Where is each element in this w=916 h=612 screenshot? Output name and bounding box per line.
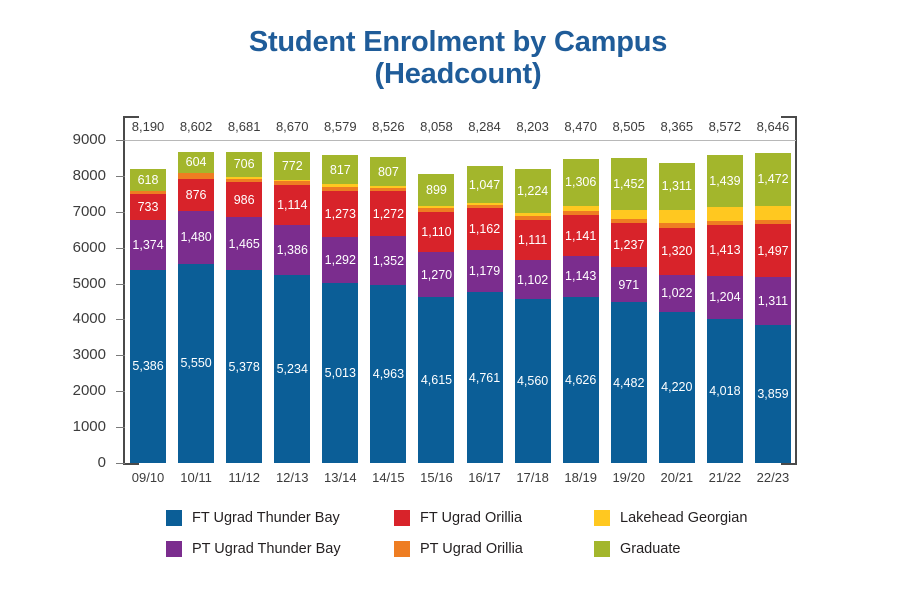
bar-segment-label: 772 [274,159,310,173]
bar-segment-label: 1,111 [515,233,551,247]
bar-column[interactable]: 5,0131,2921,273817 [322,140,358,463]
bar-segment-label: 4,626 [563,373,599,387]
chart-title: Student Enrolment by Campus (Headcount) [0,26,916,90]
bar-segment-ft_ugrad_thunder_bay[interactable]: 3,859 [755,325,791,463]
bar-segment-lakehead_georgian[interactable] [707,207,743,221]
bar-column[interactable]: 4,6261,1431,1411,306 [563,140,599,463]
bar-segment-pt_ugrad_thunder_bay[interactable]: 1,179 [467,250,503,292]
bar-segment-label: 604 [178,155,214,169]
y-axis-label-0: 0 [98,454,106,471]
legend-swatch-graduate [594,541,610,557]
bar-segment-lakehead_georgian[interactable] [274,180,310,181]
bar-segment-ft_ugrad_thunder_bay[interactable]: 4,626 [563,297,599,463]
bar-segment-pt_ugrad_thunder_bay[interactable]: 1,143 [563,256,599,297]
x-axis-label: 15/16 [412,470,460,485]
bar-total-label: 8,505 [605,119,653,134]
bar-segment-ft_ugrad_thunder_bay[interactable]: 4,018 [707,319,743,463]
bar-segment-ft_ugrad_orillia[interactable]: 1,272 [370,191,406,237]
bar-segment-label: 1,141 [563,229,599,243]
bar-segment-label: 817 [322,163,358,177]
y-tick-1000 [116,427,125,428]
bar-segment-ft_ugrad_thunder_bay[interactable]: 4,963 [370,285,406,463]
bar-segment-graduate[interactable]: 1,452 [611,158,647,210]
bar-segment-pt_ugrad_thunder_bay[interactable]: 1,465 [226,217,262,270]
legend-label-ft_ugrad_thunder_bay: FT Ugrad Thunder Bay [192,510,340,526]
axis-cap-bottom-right [781,463,797,465]
bar-segment-ft_ugrad_orillia[interactable]: 1,237 [611,223,647,267]
bar-segment-label: 1,480 [178,230,214,244]
bar-segment-lakehead_georgian[interactable] [467,203,503,205]
bar-segment-ft_ugrad_thunder_bay[interactable]: 5,013 [322,283,358,463]
bar-segment-label: 4,220 [659,380,695,394]
bar-segment-pt_ugrad_thunder_bay[interactable]: 1,352 [370,236,406,285]
bar-segment-ft_ugrad_orillia[interactable]: 876 [178,179,214,210]
chart-title-line1: Student Enrolment by Campus [249,26,667,58]
bar-total-label: 8,646 [749,119,797,134]
bar-segment-lakehead_georgian[interactable] [659,210,695,223]
bar-total-label: 8,284 [461,119,509,134]
legend-swatch-ft_ugrad_thunder_bay [166,510,182,526]
y-tick-3000 [116,355,125,356]
bar-segment-label: 1,413 [707,243,743,257]
x-axis-label: 22/23 [749,470,797,485]
bar-segment-pt_ugrad_thunder_bay[interactable]: 1,480 [178,211,214,264]
bar-column[interactable]: 4,0181,2041,4131,439 [707,140,743,463]
bar-total-label: 8,572 [701,119,749,134]
y-tick-2000 [116,391,125,392]
legend-item-graduate[interactable]: Graduate [594,541,680,557]
bar-segment-lakehead_georgian[interactable] [755,206,791,220]
bar-segment-label: 1,374 [130,238,166,252]
bar-segment-label: 4,963 [370,367,406,381]
bar-segment-lakehead_georgian[interactable] [322,184,358,186]
bar-segment-label: 1,472 [755,172,791,186]
bar-segment-graduate[interactable]: 899 [418,174,454,206]
x-axis-label: 09/10 [124,470,172,485]
bar-segment-ft_ugrad_orillia[interactable]: 1,162 [467,208,503,250]
y-axis-label-2000: 2000 [73,382,106,399]
bar-segment-pt_ugrad_orillia[interactable] [515,216,551,220]
bar-total-label: 8,470 [557,119,605,134]
bar-segment-graduate[interactable]: 807 [370,157,406,186]
bar-segment-ft_ugrad_thunder_bay[interactable]: 4,220 [659,312,695,463]
legend-item-ft_ugrad_thunder_bay[interactable]: FT Ugrad Thunder Bay [166,510,340,526]
bar-segment-lakehead_georgian[interactable] [611,210,647,219]
bar-segment-graduate[interactable]: 1,311 [659,163,695,210]
bar-segment-pt_ugrad_thunder_bay[interactable]: 1,386 [274,225,310,275]
axis-cap-top-left [123,116,139,118]
bar-segment-ft_ugrad_orillia[interactable]: 1,320 [659,228,695,275]
bar-column[interactable]: 5,3781,465986706 [226,140,262,463]
bar-segment-pt_ugrad_orillia[interactable] [178,173,214,179]
y-axis-label-1000: 1000 [73,418,106,435]
bar-segment-ft_ugrad_orillia[interactable]: 733 [130,194,166,220]
legend-label-ft_ugrad_orillia: FT Ugrad Orillia [420,510,522,526]
bar-segment-label: 876 [178,188,214,202]
bar-segment-pt_ugrad_orillia[interactable] [611,219,647,223]
bar-segment-label: 3,859 [755,387,791,401]
y-tick-9000 [116,140,125,141]
bar-segment-label: 706 [226,157,262,171]
bar-segment-ft_ugrad_thunder_bay[interactable]: 5,234 [274,275,310,463]
bar-segment-pt_ugrad_orillia[interactable] [659,223,695,227]
bar-column[interactable]: 4,5601,1021,1111,224 [515,140,551,463]
bar-segment-pt_ugrad_orillia[interactable] [322,187,358,191]
legend-label-pt_ugrad_thunder_bay: PT Ugrad Thunder Bay [192,541,341,557]
bar-segment-ft_ugrad_thunder_bay[interactable]: 4,560 [515,299,551,463]
bar-segment-pt_ugrad_thunder_bay[interactable]: 1,374 [130,220,166,269]
legend-swatch-pt_ugrad_thunder_bay [166,541,182,557]
bar-segment-label: 1,311 [755,294,791,308]
bar-column[interactable]: 5,2341,3861,114772 [274,140,310,463]
legend-item-pt_ugrad_thunder_bay[interactable]: PT Ugrad Thunder Bay [166,541,341,557]
bar-segment-pt_ugrad_orillia[interactable] [755,220,791,224]
bar-segment-label: 5,234 [274,362,310,376]
bar-segment-label: 4,482 [611,376,647,390]
y-tick-6000 [116,248,125,249]
legend-label-pt_ugrad_orillia: PT Ugrad Orillia [420,541,523,557]
bar-total-label: 8,526 [364,119,412,134]
bar-segment-label: 1,306 [563,175,599,189]
x-axis-label: 10/11 [172,470,220,485]
chart-legend: FT Ugrad Thunder BayPT Ugrad Thunder Bay… [166,510,786,572]
y-axis-label-8000: 8000 [73,167,106,184]
x-axis-label: 14/15 [364,470,412,485]
y-axis-label-6000: 6000 [73,239,106,256]
bar-total-label: 8,681 [220,119,268,134]
bar-segment-pt_ugrad_thunder_bay[interactable]: 1,102 [515,260,551,300]
bar-segment-graduate[interactable]: 1,306 [563,159,599,206]
x-axis-label: 12/13 [268,470,316,485]
bar-total-label: 8,670 [268,119,316,134]
x-axis-label: 21/22 [701,470,749,485]
bar-segment-pt_ugrad_orillia[interactable] [370,188,406,191]
bar-segment-label: 1,352 [370,254,406,268]
bar-segment-label: 1,272 [370,207,406,221]
bar-segment-pt_ugrad_thunder_bay[interactable]: 1,204 [707,276,743,319]
y-axis-label-7000: 7000 [73,203,106,220]
bar-segment-ft_ugrad_orillia[interactable]: 986 [226,182,262,217]
y-axis-label-5000: 5000 [73,275,106,292]
bar-segment-ft_ugrad_orillia[interactable]: 1,273 [322,191,358,237]
bar-column[interactable]: 4,2201,0221,3201,311 [659,140,695,463]
bar-segment-label: 1,465 [226,237,262,251]
bar-total-label: 8,203 [509,119,557,134]
bar-segment-graduate[interactable]: 1,439 [707,155,743,207]
bar-segment-label: 5,386 [130,359,166,373]
bar-segment-pt_ugrad_thunder_bay[interactable]: 971 [611,267,647,302]
bar-segment-label: 1,143 [563,269,599,283]
bar-segment-label: 971 [611,278,647,292]
bar-segment-graduate[interactable]: 706 [226,152,262,177]
bar-segment-label: 1,110 [418,225,454,239]
bar-segment-ft_ugrad_thunder_bay[interactable]: 5,378 [226,270,262,463]
bar-segment-label: 5,378 [226,360,262,374]
y-axis-label-3000: 3000 [73,346,106,363]
x-axis-label: 11/12 [220,470,268,485]
bar-segment-ft_ugrad_thunder_bay[interactable]: 4,615 [418,297,454,463]
x-axis-label: 17/18 [509,470,557,485]
bar-segment-label: 4,761 [467,371,503,385]
bar-segment-ft_ugrad_thunder_bay[interactable]: 5,550 [178,264,214,463]
bar-segment-pt_ugrad_thunder_bay[interactable]: 1,270 [418,252,454,298]
bar-segment-label: 1,273 [322,207,358,221]
legend-swatch-pt_ugrad_orillia [394,541,410,557]
bar-column[interactable]: 5,3861,374733618 [130,140,166,463]
legend-swatch-ft_ugrad_orillia [394,510,410,526]
bar-segment-graduate[interactable]: 817 [322,155,358,184]
bar-segment-graduate[interactable]: 1,047 [467,166,503,204]
bar-segment-label: 618 [130,173,166,187]
bar-segment-label: 1,224 [515,184,551,198]
bar-segment-label: 1,162 [467,222,503,236]
legend-label-graduate: Graduate [620,541,680,557]
bar-segment-label: 1,204 [707,290,743,304]
bar-segment-label: 4,018 [707,384,743,398]
bar-segment-ft_ugrad_orillia[interactable]: 1,497 [755,224,791,278]
bar-segment-ft_ugrad_thunder_bay[interactable]: 4,482 [611,302,647,463]
y-tick-5000 [116,284,125,285]
legend-item-ft_ugrad_orillia[interactable]: FT Ugrad Orillia [394,510,522,526]
chart-title-line2: (Headcount) [0,58,916,90]
y-axis-label-9000: 9000 [73,131,106,148]
bar-segment-pt_ugrad_orillia[interactable] [130,191,166,194]
legend-item-pt_ugrad_orillia[interactable]: PT Ugrad Orillia [394,541,523,557]
bar-segment-pt_ugrad_thunder_bay[interactable]: 1,292 [322,237,358,283]
bar-total-label: 8,365 [653,119,701,134]
bar-segment-label: 5,550 [178,356,214,370]
x-axis-label: 16/17 [461,470,509,485]
bar-column[interactable]: 4,7611,1791,1621,047 [467,140,503,463]
bar-segment-pt_ugrad_orillia[interactable] [467,205,503,208]
bar-segment-label: 4,560 [515,374,551,388]
bar-segment-pt_ugrad_thunder_bay[interactable]: 1,311 [755,277,791,324]
bar-column[interactable]: 5,5501,480876604 [178,140,214,463]
bar-segment-ft_ugrad_orillia[interactable]: 1,413 [707,225,743,276]
bar-segment-lakehead_georgian[interactable] [515,213,551,217]
bar-segment-ft_ugrad_orillia[interactable]: 1,141 [563,215,599,256]
bar-segment-pt_ugrad_orillia[interactable] [418,208,454,212]
bar-segment-pt_ugrad_orillia[interactable] [563,211,599,215]
bar-segment-pt_ugrad_orillia[interactable] [707,221,743,225]
bar-segment-label: 1,102 [515,273,551,287]
bar-segment-label: 1,311 [659,179,695,193]
bar-segment-graduate[interactable]: 772 [274,152,310,180]
bar-segment-graduate[interactable]: 1,472 [755,153,791,206]
bar-segment-label: 1,386 [274,243,310,257]
y-tick-7000 [116,212,125,213]
bar-total-label: 8,190 [124,119,172,134]
bar-segment-label: 899 [418,183,454,197]
chart-root: Student Enrolment by Campus (Headcount) … [0,0,916,612]
bar-segment-label: 1,292 [322,253,358,267]
bar-column[interactable]: 4,9631,3521,272807 [370,140,406,463]
bar-segment-pt_ugrad_orillia[interactable] [274,181,310,185]
bar-segment-ft_ugrad_thunder_bay[interactable]: 5,386 [130,270,166,463]
bar-segment-graduate[interactable]: 1,224 [515,169,551,213]
y-axis: 0100020003000400050006000700080009000 [0,0,114,612]
bar-segment-label: 1,452 [611,177,647,191]
bar-column[interactable]: 3,8591,3111,4971,472 [755,140,791,463]
bar-segment-ft_ugrad_thunder_bay[interactable]: 4,761 [467,292,503,463]
bar-segment-label: 1,270 [418,268,454,282]
axis-cap-top-right [781,116,797,118]
bar-segment-lakehead_georgian[interactable] [418,206,454,208]
legend-swatch-lakehead_georgian [594,510,610,526]
bar-segment-ft_ugrad_orillia[interactable]: 1,111 [515,220,551,260]
bar-segment-label: 1,497 [755,244,791,258]
bar-segment-lakehead_georgian[interactable] [370,186,406,188]
x-axis-label: 18/19 [557,470,605,485]
plot-area: 5,3861,3747336185,5501,4808766045,3781,4… [124,140,797,463]
bar-segment-lakehead_georgian[interactable] [226,177,262,179]
y-tick-0 [116,463,125,464]
bar-segment-lakehead_georgian[interactable] [563,206,599,211]
axis-cap-bottom-left [123,463,139,465]
bar-segment-label: 1,320 [659,244,695,258]
bar-segment-label: 1,237 [611,238,647,252]
y-tick-4000 [116,319,125,320]
legend-label-lakehead_georgian: Lakehead Georgian [620,510,747,526]
y-tick-8000 [116,176,125,177]
bar-segment-label: 1,114 [274,198,310,212]
bar-segment-label: 1,439 [707,174,743,188]
bar-segment-label: 986 [226,193,262,207]
y-axis-label-4000: 4000 [73,310,106,327]
legend-item-lakehead_georgian[interactable]: Lakehead Georgian [594,510,747,526]
bar-segment-label: 1,047 [467,178,503,192]
bar-segment-label: 733 [130,200,166,214]
bar-segment-graduate[interactable]: 604 [178,152,214,174]
x-axis-label: 20/21 [653,470,701,485]
bar-segment-graduate[interactable]: 618 [130,169,166,191]
bar-segment-label: 4,615 [418,373,454,387]
bar-segment-ft_ugrad_orillia[interactable]: 1,110 [418,212,454,252]
bar-total-label: 8,579 [316,119,364,134]
bar-segment-label: 5,013 [322,366,358,380]
bar-total-label: 8,058 [412,119,460,134]
bar-column[interactable]: 4,4829711,2371,452 [611,140,647,463]
bar-segment-ft_ugrad_orillia[interactable]: 1,114 [274,185,310,225]
bar-segment-label: 1,179 [467,264,503,278]
x-axis-label: 13/14 [316,470,364,485]
bar-total-label: 8,602 [172,119,220,134]
bar-column[interactable]: 4,6151,2701,110899 [418,140,454,463]
bar-segment-pt_ugrad_orillia[interactable] [226,179,262,183]
x-axis-label: 19/20 [605,470,653,485]
bar-segment-label: 807 [370,165,406,179]
bar-segment-pt_ugrad_thunder_bay[interactable]: 1,022 [659,275,695,312]
bar-segment-label: 1,022 [659,286,695,300]
